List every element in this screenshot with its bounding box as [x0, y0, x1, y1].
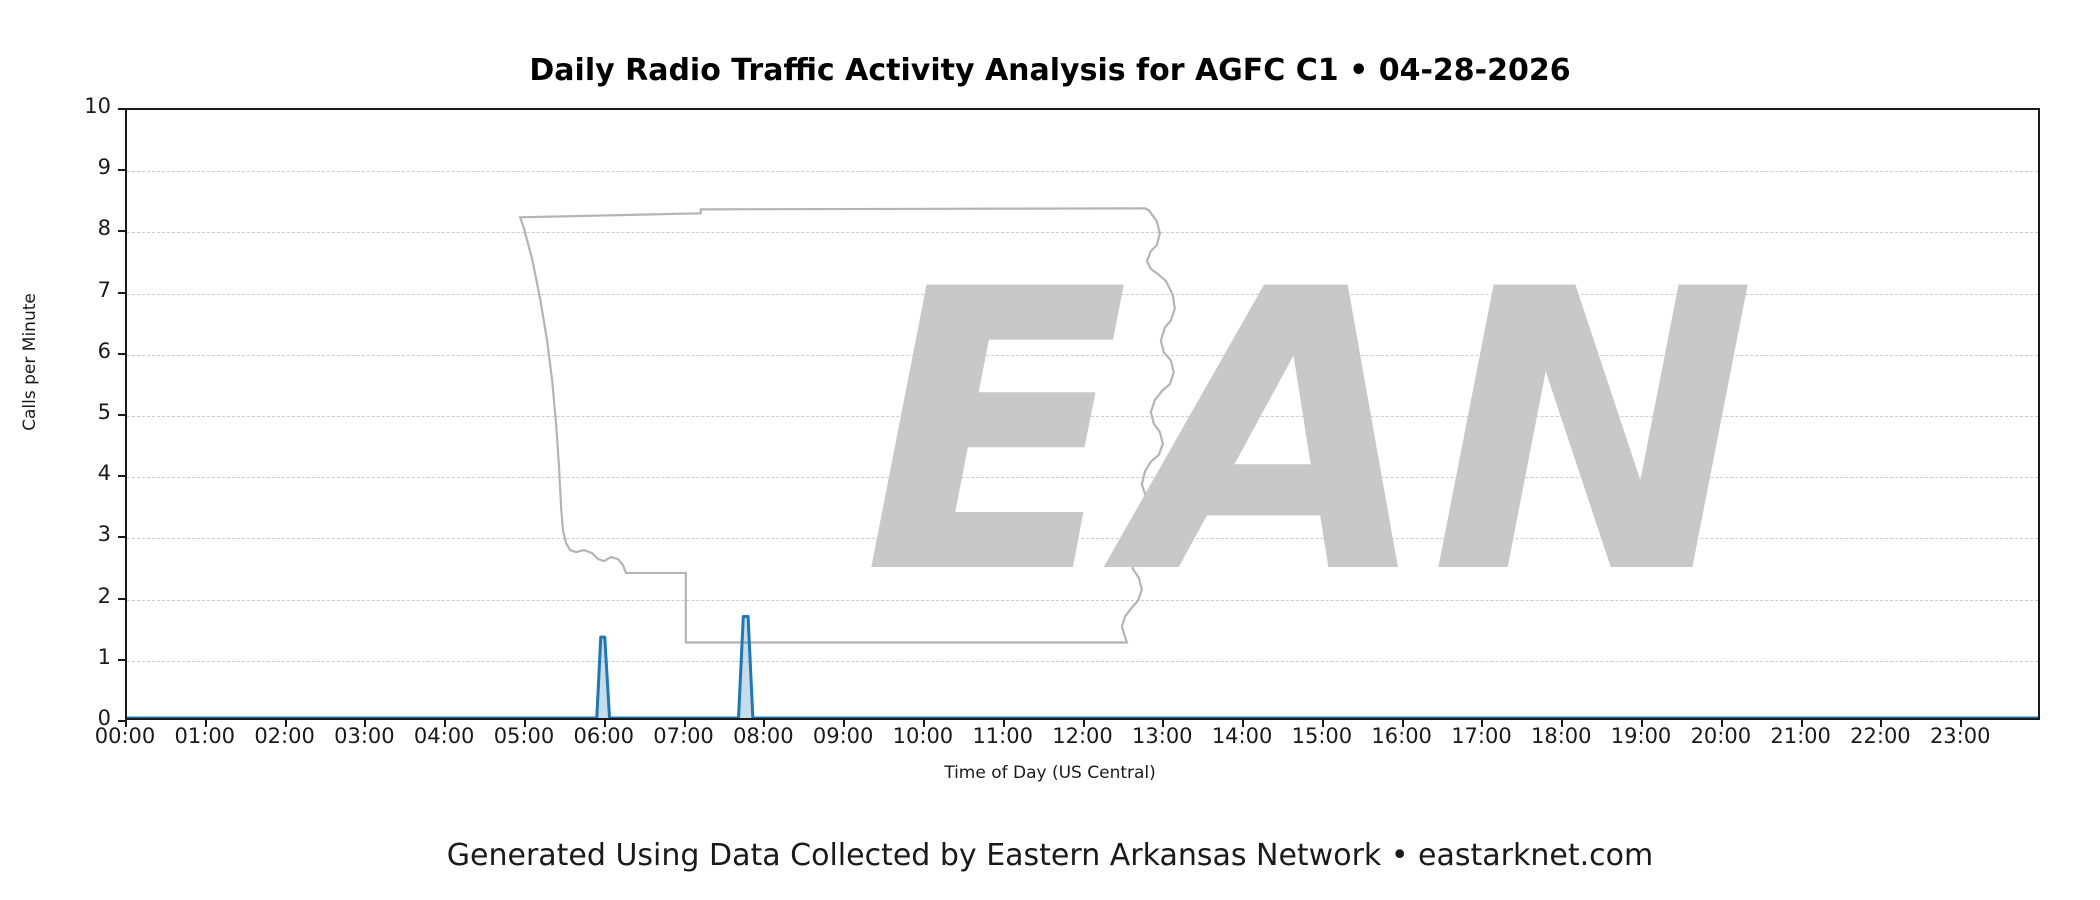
x-tick-mark-2300	[1960, 720, 1962, 727]
footer-credit: Generated Using Data Collected by Easter…	[0, 838, 2100, 873]
y-tick-label-1: 1	[71, 647, 111, 668]
x-tick-mark-1600	[1402, 720, 1404, 727]
x-tick-mark-1700	[1481, 720, 1483, 727]
x-tick-mark-0200	[285, 720, 287, 727]
series-area-fill	[127, 616, 2038, 718]
x-tick-mark-0500	[524, 720, 526, 727]
series-line	[127, 616, 2038, 718]
y-tick-mark-0	[118, 720, 125, 722]
y-tick-mark-8	[118, 230, 125, 232]
y-tick-label-6: 6	[71, 341, 111, 362]
y-tick-label-5: 5	[71, 402, 111, 423]
y-tick-mark-6	[118, 353, 125, 355]
chart-figure: Daily Radio Traffic Activity Analysis fo…	[0, 0, 2100, 900]
x-tick-mark-0900	[843, 720, 845, 727]
x-tick-mark-1400	[1242, 720, 1244, 727]
y-tick-mark-7	[118, 292, 125, 294]
y-tick-mark-2	[118, 598, 125, 600]
x-tick-mark-0000	[125, 720, 127, 727]
y-tick-mark-1	[118, 659, 125, 661]
y-tick-label-9: 9	[71, 157, 111, 178]
y-axis-label: Calls per Minute	[20, 132, 40, 592]
x-tick-mark-1800	[1561, 720, 1563, 727]
x-tick-mark-1900	[1641, 720, 1643, 727]
series-layer	[127, 110, 2038, 718]
x-tick-mark-1000	[923, 720, 925, 727]
y-tick-label-8: 8	[71, 218, 111, 239]
x-axis-label: Time of Day (US Central)	[0, 763, 2100, 783]
y-tick-mark-9	[118, 169, 125, 171]
x-tick-mark-1300	[1162, 720, 1164, 727]
x-tick-mark-0700	[684, 720, 686, 727]
x-tick-mark-0400	[444, 720, 446, 727]
x-tick-mark-2100	[1801, 720, 1803, 727]
y-tick-label-7: 7	[71, 280, 111, 301]
x-tick-mark-1500	[1322, 720, 1324, 727]
y-tick-label-3: 3	[71, 524, 111, 545]
x-tick-mark-2200	[1880, 720, 1882, 727]
y-tick-mark-5	[118, 414, 125, 416]
x-tick-mark-0600	[604, 720, 606, 727]
x-tick-label-2300: 23:00	[1900, 726, 2020, 747]
x-tick-mark-1100	[1003, 720, 1005, 727]
y-tick-label-10: 10	[71, 96, 111, 117]
y-tick-mark-3	[118, 536, 125, 538]
x-tick-mark-2000	[1721, 720, 1723, 727]
x-tick-mark-0300	[364, 720, 366, 727]
y-tick-mark-10	[118, 108, 125, 110]
y-tick-label-4: 4	[71, 463, 111, 484]
chart-title: Daily Radio Traffic Activity Analysis fo…	[0, 53, 2100, 88]
y-tick-label-2: 2	[71, 586, 111, 607]
x-tick-mark-1200	[1083, 720, 1085, 727]
x-tick-mark-0800	[763, 720, 765, 727]
x-tick-mark-0100	[205, 720, 207, 727]
y-tick-mark-4	[118, 475, 125, 477]
plot-area: EAN	[125, 108, 2040, 720]
